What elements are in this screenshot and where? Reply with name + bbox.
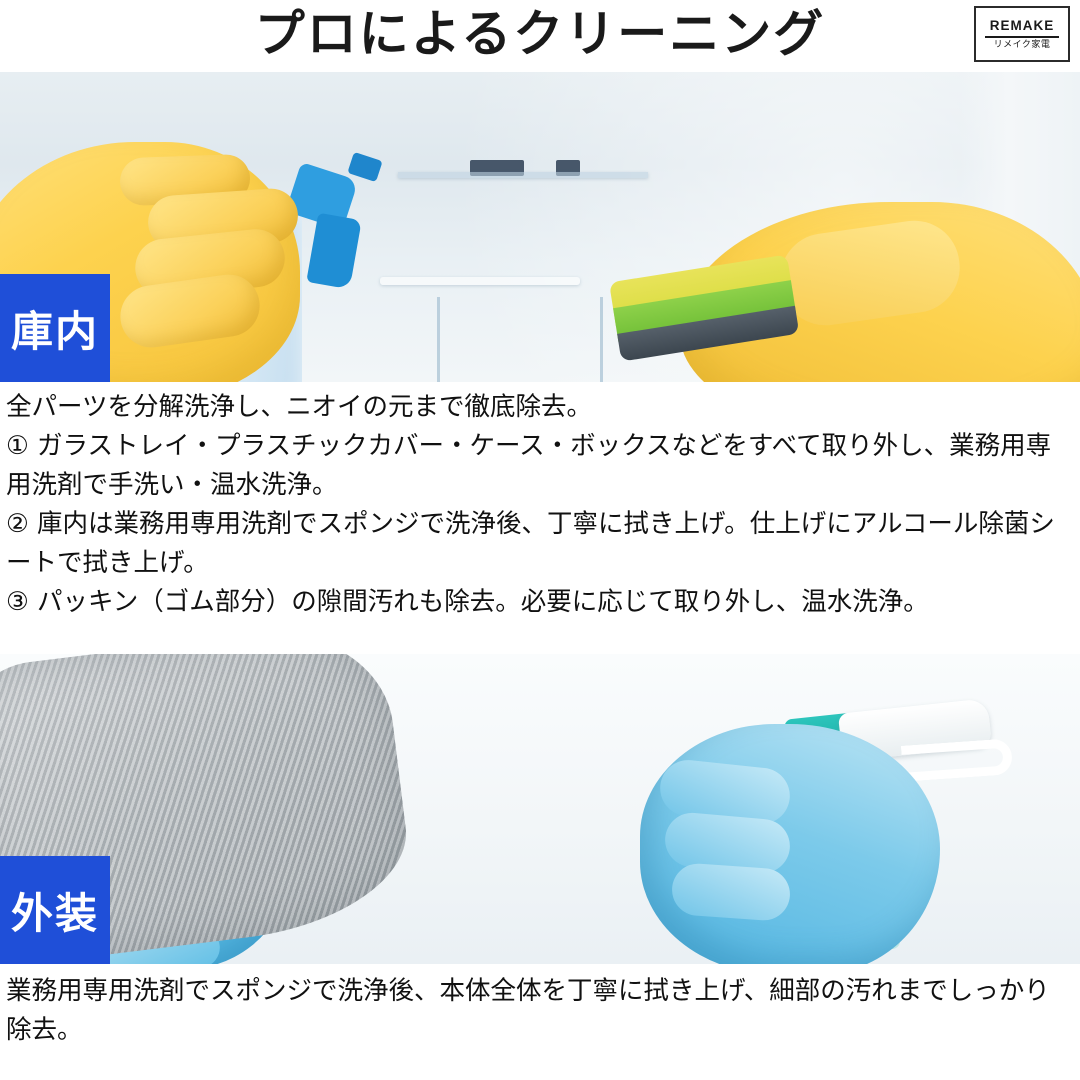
exterior-description: 業務用専用洗剤でスポンジで洗浄後、本体全体を丁寧に拭き上げ、細部の汚れまでしっか…: [0, 964, 1080, 1054]
page-header: プロによるクリーニング REMAKE リメイク家電: [0, 0, 1080, 72]
section-label-interior: 庫内: [0, 274, 110, 382]
brand-logo-sub: リメイク家電: [994, 40, 1051, 51]
blue-glove-right-finger-3: [670, 862, 791, 922]
section-label-exterior: 外装: [0, 856, 110, 964]
fridge-shelf-upper: [398, 172, 648, 178]
fridge-door-divider-right: [600, 297, 603, 382]
brand-logo-main: REMAKE: [990, 18, 1055, 34]
fridge-door-divider-left: [437, 297, 440, 382]
fridge-shelf-lower: [380, 277, 580, 285]
exterior-photo: 外装: [0, 654, 1080, 964]
interior-description: 全パーツを分解洗浄し、ニオイの元まで徹底除去。 ① ガラストレイ・プラスチックカ…: [0, 382, 1080, 654]
promo-page: プロによるクリーニング REMAKE リメイク家電: [0, 0, 1080, 1080]
brand-logo: REMAKE リメイク家電: [974, 6, 1070, 62]
interior-photo: 庫内: [0, 72, 1080, 382]
page-title: プロによるクリーニング: [0, 2, 1080, 66]
brand-logo-divider: [985, 36, 1059, 38]
exterior-description-text: 業務用専用洗剤でスポンジで洗浄後、本体全体を丁寧に拭き上げ、細部の汚れまでしっか…: [6, 972, 1074, 1050]
teal-spray-handle: [901, 738, 1013, 782]
interior-description-text: 全パーツを分解洗浄し、ニオイの元まで徹底除去。 ① ガラストレイ・プラスチックカ…: [6, 388, 1074, 622]
